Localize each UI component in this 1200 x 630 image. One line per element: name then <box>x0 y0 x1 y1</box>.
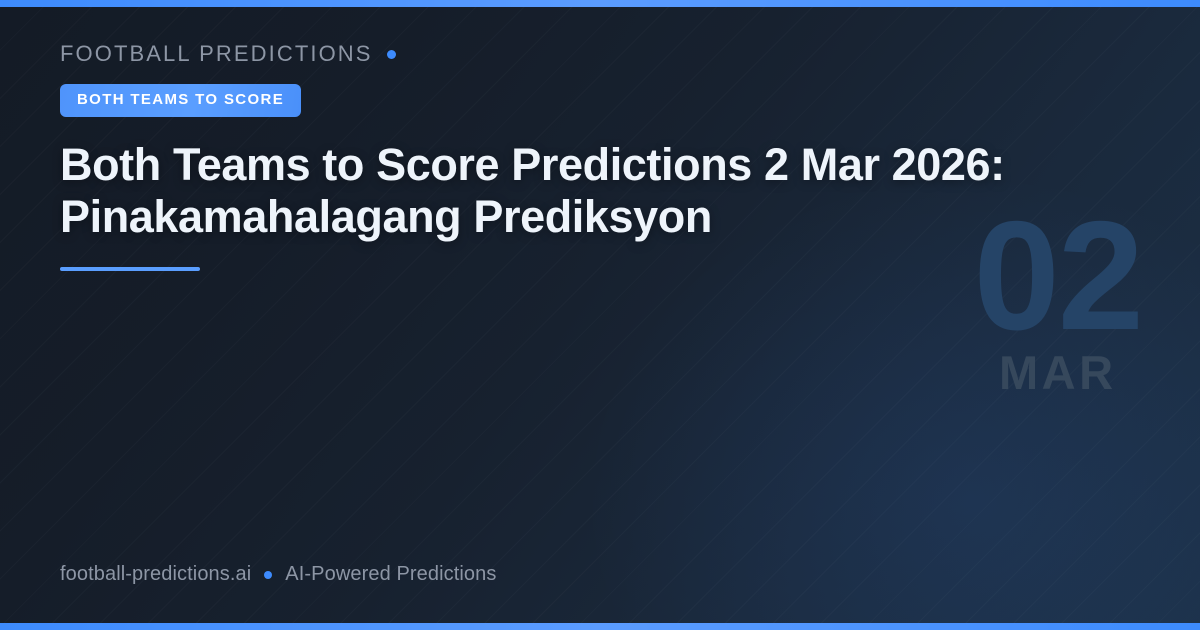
top-accent-bar <box>0 0 1200 7</box>
bottom-accent-bar <box>0 623 1200 630</box>
eyebrow-row: FOOTBALL PREDICTIONS <box>60 40 1080 68</box>
accent-underline <box>60 267 200 271</box>
footer: football-predictions.ai AI-Powered Predi… <box>60 563 496 586</box>
footer-site-name: football-predictions.ai <box>60 563 251 586</box>
footer-tagline: AI-Powered Predictions <box>285 563 496 586</box>
content-area: FOOTBALL PREDICTIONS BOTH TEAMS TO SCORE… <box>60 40 1080 271</box>
page-title: Both Teams to Score Predictions 2 Mar 20… <box>60 139 1070 243</box>
dot-icon <box>387 50 396 59</box>
dot-icon <box>264 571 272 579</box>
category-badge: BOTH TEAMS TO SCORE <box>60 84 301 117</box>
og-banner-card: 02 MAR FOOTBALL PREDICTIONS BOTH TEAMS T… <box>0 0 1200 630</box>
eyebrow-label: FOOTBALL PREDICTIONS <box>60 40 373 68</box>
